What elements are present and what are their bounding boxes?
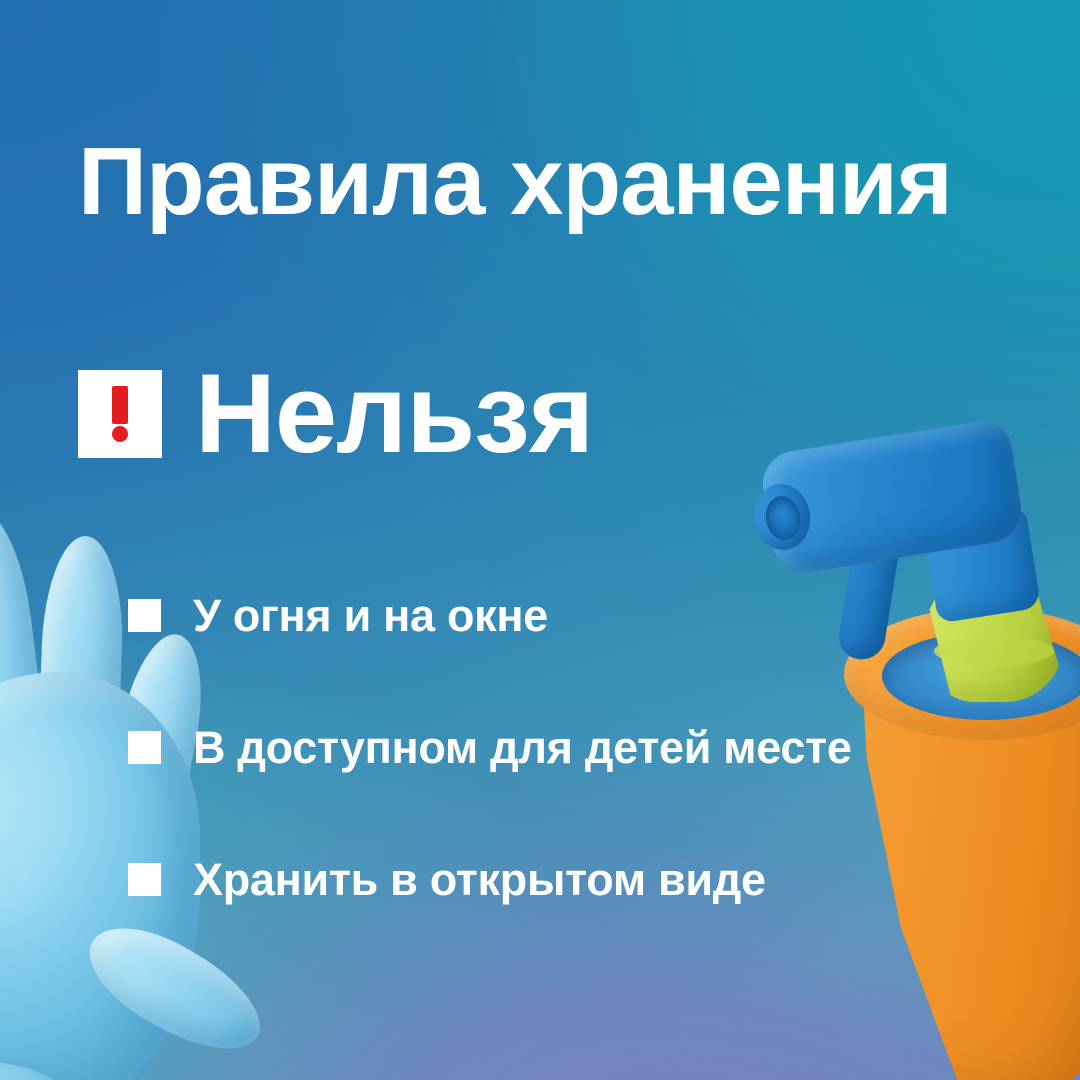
- list-item: Хранить в открытом виде: [128, 848, 1028, 910]
- list-item: У огня и на окне: [128, 584, 1028, 646]
- square-bullet-icon: [128, 863, 161, 896]
- exclamation-mark-icon: [78, 370, 162, 458]
- storage-rules-poster: Правила хранения Нельзя У огня и на окне…: [0, 0, 1080, 1080]
- square-bullet-icon: [128, 599, 161, 632]
- warning-heading: Нельзя: [78, 358, 593, 470]
- list-item-label: У огня и на окне: [193, 593, 548, 638]
- warning-label: Нельзя: [195, 358, 593, 470]
- prohibitions-list: У огня и на окне В доступном для детей м…: [128, 584, 1028, 980]
- list-item-label: Хранить в открытом виде: [193, 857, 766, 902]
- square-bullet-icon: [128, 731, 161, 764]
- list-item-label: В доступном для детей месте: [193, 725, 852, 770]
- exclamation-glyph: [112, 386, 128, 442]
- page-title: Правила хранения: [78, 134, 952, 230]
- list-item: В доступном для детей месте: [128, 716, 1028, 778]
